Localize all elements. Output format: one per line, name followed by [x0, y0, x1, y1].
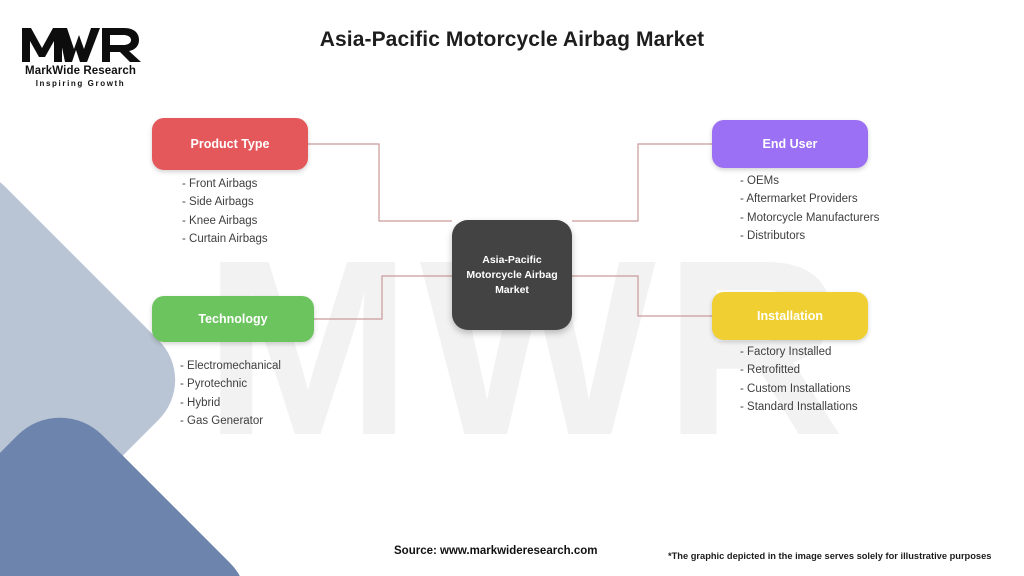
- list-item: - OEMs: [740, 172, 879, 190]
- logo-company-name: MarkWide Research: [18, 65, 143, 77]
- branch-node-technology[interactable]: Technology: [152, 296, 314, 342]
- branch-list-end-user: - OEMs - Aftermarket Providers - Motorcy…: [740, 172, 879, 245]
- branch-label-product-type: Product Type: [191, 137, 270, 151]
- list-item: - Hybrid: [180, 394, 281, 412]
- branch-list-installation: - Factory Installed - Retrofitted - Cust…: [740, 343, 858, 416]
- list-item: - Motorcycle Manufacturers: [740, 209, 879, 227]
- branch-label-end-user: End User: [763, 137, 818, 151]
- branch-node-end-user[interactable]: End User: [712, 120, 868, 168]
- list-item: - Gas Generator: [180, 412, 281, 430]
- branch-node-installation[interactable]: Installation: [712, 292, 868, 340]
- list-item: - Pyrotechnic: [180, 375, 281, 393]
- list-item: - Side Airbags: [182, 193, 268, 211]
- branch-node-product-type[interactable]: Product Type: [152, 118, 308, 170]
- branch-label-technology: Technology: [198, 312, 267, 326]
- list-item: - Electromechanical: [180, 357, 281, 375]
- center-node[interactable]: Asia-Pacific Motorcycle Airbag Market: [452, 220, 572, 330]
- branch-label-installation: Installation: [757, 309, 823, 323]
- page-title: Asia-Pacific Motorcycle Airbag Market: [0, 28, 1024, 52]
- branch-list-technology: - Electromechanical - Pyrotechnic - Hybr…: [180, 357, 281, 430]
- logo-tagline: Inspiring Growth: [18, 79, 143, 88]
- list-item: - Custom Installations: [740, 380, 858, 398]
- list-item: - Front Airbags: [182, 175, 268, 193]
- branch-list-product-type: - Front Airbags - Side Airbags - Knee Ai…: [182, 175, 268, 248]
- list-item: - Factory Installed: [740, 343, 858, 361]
- infographic-canvas: MWR MarkWide Research Inspiring Growth A…: [0, 0, 1024, 576]
- center-node-label: Asia-Pacific Motorcycle Airbag Market: [452, 253, 572, 298]
- list-item: - Curtain Airbags: [182, 230, 268, 248]
- source-text: Source: www.markwideresearch.com: [394, 545, 597, 557]
- list-item: - Distributors: [740, 227, 879, 245]
- list-item: - Knee Airbags: [182, 212, 268, 230]
- disclaimer-text: *The graphic depicted in the image serve…: [668, 551, 991, 561]
- list-item: - Aftermarket Providers: [740, 190, 879, 208]
- list-item: - Retrofitted: [740, 361, 858, 379]
- list-item: - Standard Installations: [740, 398, 858, 416]
